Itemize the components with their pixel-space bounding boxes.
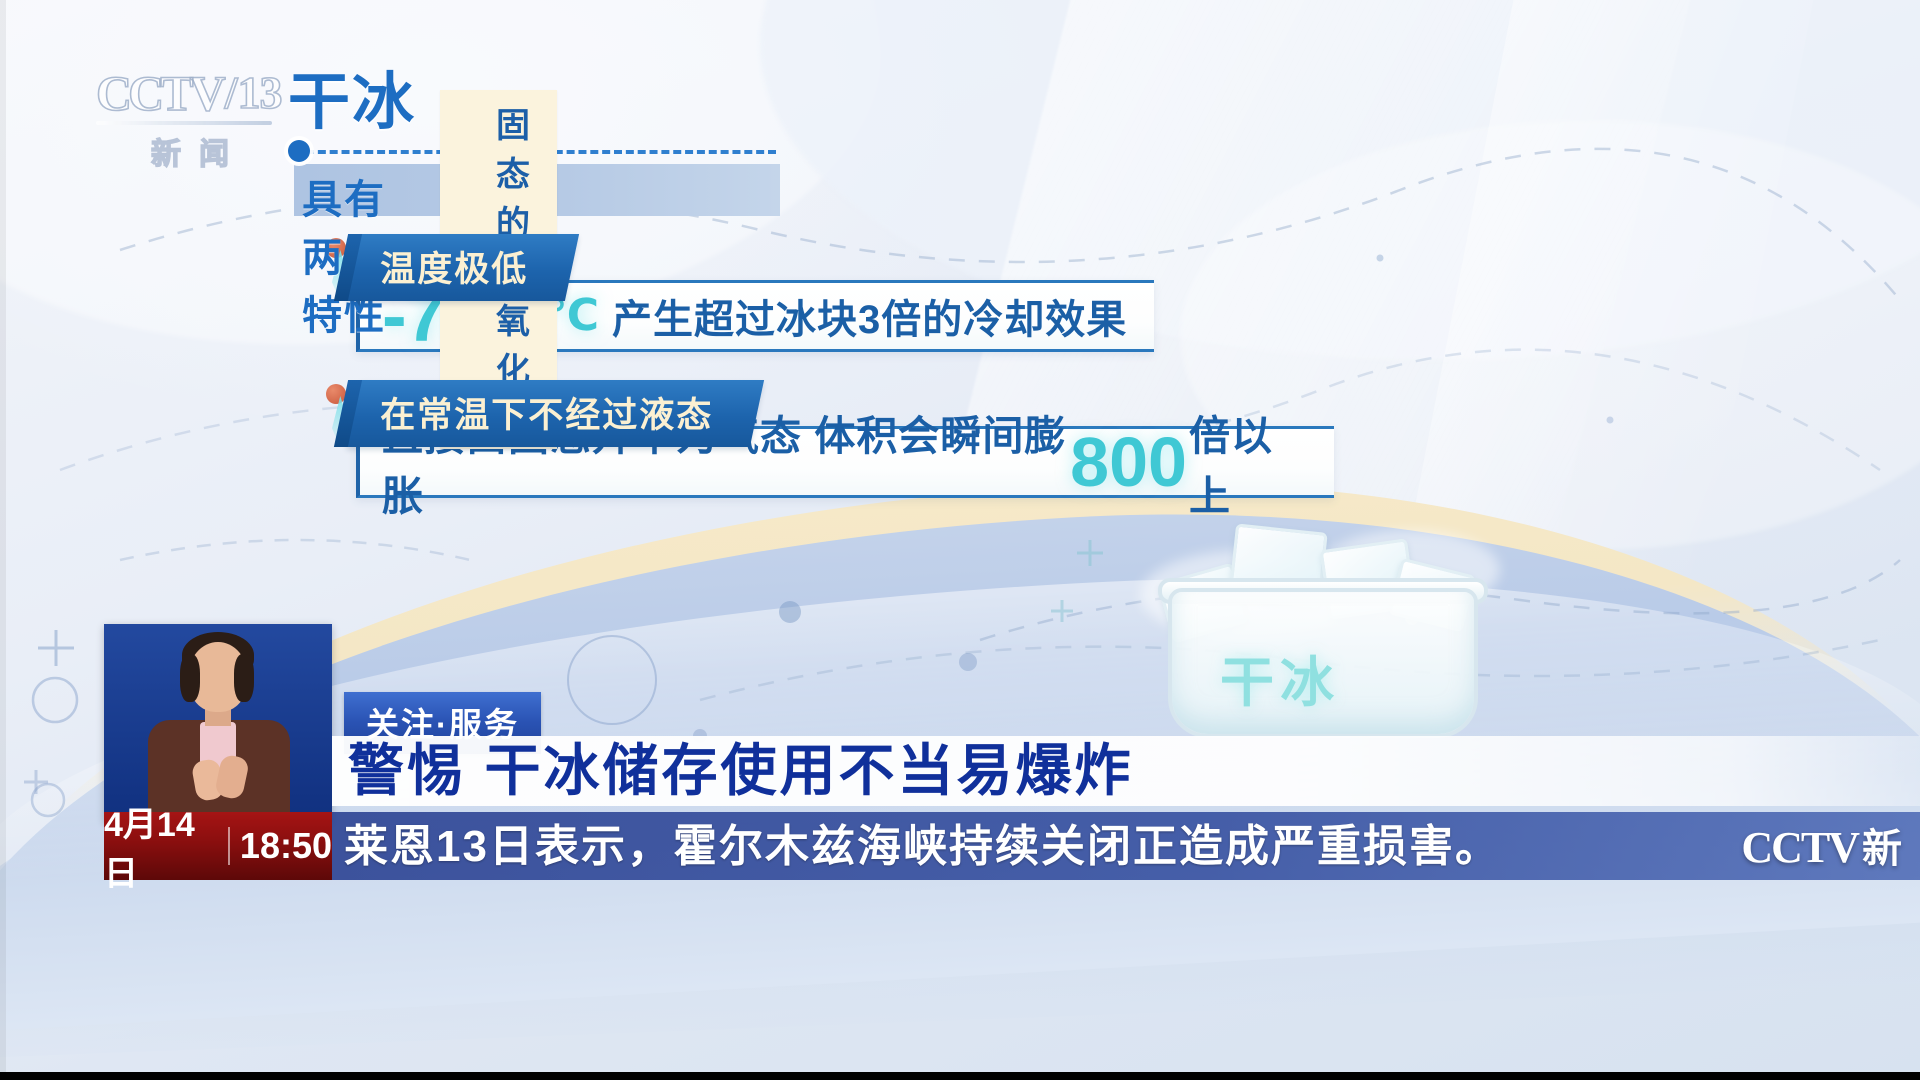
graphic-title: 干冰: [288, 72, 416, 134]
channel-logo-text: CCTV / 13: [96, 68, 292, 118]
sign-language-inset: [104, 624, 332, 822]
cctv-watermark: CCTV 新: [1741, 816, 1902, 874]
datetime-box: 4月14日 18:50: [104, 812, 332, 880]
sublimation-text-after: 倍以上: [1189, 402, 1308, 522]
bottom-letterbox: [0, 1072, 1920, 1080]
fact-ribbon-label: 在常温下不经过液态: [347, 380, 764, 447]
fact-ribbon-text: 在常温下不经过液态: [380, 387, 713, 438]
datetime-separator: [228, 827, 230, 865]
current-date: 4月14日: [104, 797, 208, 895]
left-edge-shadow: [0, 0, 6, 1080]
lower-third-title: 警惕 干冰储存使用不当易爆炸: [348, 738, 1134, 804]
fact-ribbon-label: 温度极低: [347, 234, 579, 301]
logo-cctv-text: CCTV: [96, 68, 222, 118]
watermark-cn-text: 新: [1862, 816, 1902, 874]
dry-ice-illustration: 干冰: [1080, 510, 1550, 770]
signer-hair-right: [234, 654, 254, 702]
headline-graphic: 固态的二氧化碳 干冰 具有两大特性: [288, 72, 416, 134]
connector-dot: [288, 140, 310, 162]
illustration-label: 干冰: [1220, 638, 1340, 717]
logo-slash: /: [225, 70, 237, 116]
temperature-description: 产生超过冰块3倍的冷却效果: [612, 287, 1127, 345]
logo-cn-text: 新闻: [96, 129, 292, 173]
logo-channel-number: 13: [237, 70, 281, 116]
fact-ribbon-text: 温度极低: [380, 241, 528, 292]
watermark-en-text: CCTV: [1741, 822, 1858, 873]
expansion-factor: 800: [1070, 427, 1187, 497]
signer-hair-left: [180, 654, 200, 702]
current-time: 18:50: [240, 825, 332, 867]
channel-logo: CCTV / 13 新闻: [96, 68, 292, 162]
broadcast-screen: CCTV / 13 新闻 固态的二氧化碳 干冰 具有两大特性 温度极低 -78.…: [0, 0, 1920, 1080]
news-ticker-text: 莱恩13日表示，霍尔木兹海峡持续关闭正造成严重损害。: [344, 820, 1501, 874]
logo-underline: [96, 121, 272, 125]
